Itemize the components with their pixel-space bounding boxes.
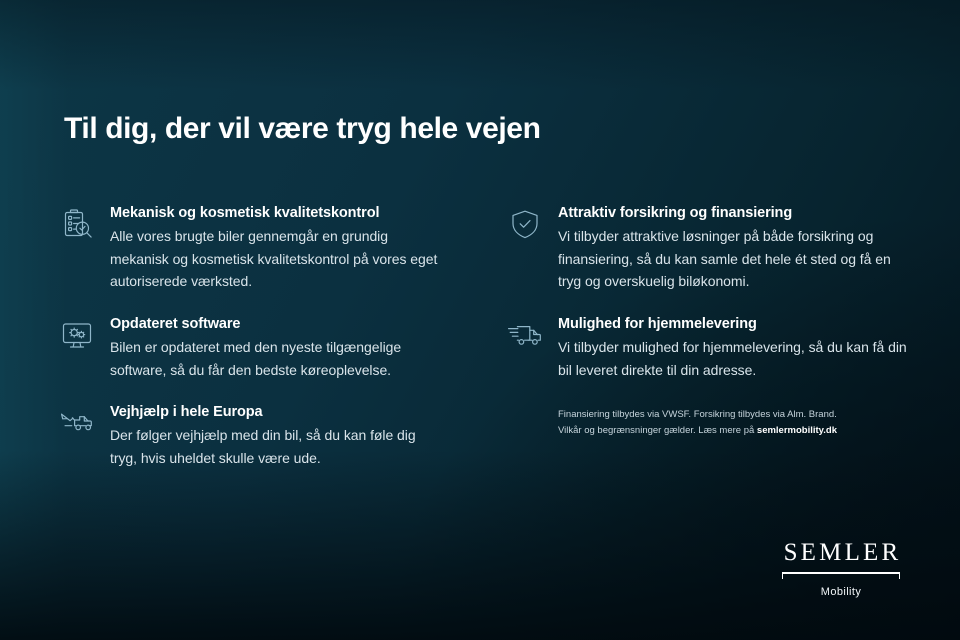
feature-body: Mekanisk og kosmetisk kvalitetskontrol A… xyxy=(110,204,470,293)
tow-truck-icon xyxy=(58,405,96,443)
feature-title: Mekanisk og kosmetisk kvalitetskontrol xyxy=(110,205,470,221)
page-title: Til dig, der vil være tryg hele vejen xyxy=(64,112,541,146)
disclaimer-line-2-text: Vilkår og begrænsninger gælder. Læs mere… xyxy=(558,425,757,436)
semler-mobility-logo: SEMLER Mobility xyxy=(780,540,902,598)
logo-wordmark: SEMLER xyxy=(780,540,902,565)
slide-content: Til dig, der vil være tryg hele vejen xyxy=(0,0,960,640)
feature-item-insurance-financing: Attraktiv forsikring og finansiering Vi … xyxy=(506,204,918,293)
feature-title: Vejhjælp i hele Europa xyxy=(110,404,470,420)
logo-subtitle: Mobility xyxy=(780,586,902,598)
feature-title: Mulighed for hjemmelevering xyxy=(558,316,918,332)
disclaimer-line-2: Vilkår og begrænsninger gælder. Læs mere… xyxy=(558,423,848,438)
feature-body: Attraktiv forsikring og finansiering Vi … xyxy=(558,204,918,293)
feature-title: Attraktiv forsikring og finansiering xyxy=(558,205,918,221)
feature-columns: Mekanisk og kosmetisk kvalitetskontrol A… xyxy=(58,204,918,470)
feature-body: Opdateret software Bilen er opdateret me… xyxy=(110,315,470,381)
feature-body: Mulighed for hjemmelevering Vi tilbyder … xyxy=(558,315,918,381)
feature-column-left: Mekanisk og kosmetisk kvalitetskontrol A… xyxy=(58,204,470,470)
logo-bracket-rule xyxy=(780,572,902,581)
disclaimer: Finansiering tilbydes via VWSF. Forsikri… xyxy=(558,407,848,438)
feature-item-roadside-assistance: Vejhjælp i hele Europa Der følger vejhjæ… xyxy=(58,403,470,469)
feature-item-quality-control: Mekanisk og kosmetisk kvalitetskontrol A… xyxy=(58,204,470,293)
clipboard-magnifier-icon xyxy=(58,206,96,244)
feature-body: Vejhjælp i hele Europa Der følger vejhjæ… xyxy=(110,403,470,469)
feature-text: Der følger vejhjælp med din bil, så du k… xyxy=(110,424,440,469)
disclaimer-line-1: Finansiering tilbydes via VWSF. Forsikri… xyxy=(558,407,848,422)
delivery-truck-icon xyxy=(506,317,544,355)
feature-text: Bilen er opdateret med den nyeste tilgæn… xyxy=(110,336,440,381)
disclaimer-website-link[interactable]: semlermobility.dk xyxy=(757,425,837,436)
feature-title: Opdateret software xyxy=(110,316,470,332)
feature-text: Alle vores brugte biler gennemgår en gru… xyxy=(110,225,440,293)
shield-check-icon xyxy=(506,206,544,244)
feature-text: Vi tilbyder mulighed for hjemmelevering,… xyxy=(558,336,914,381)
monitor-gears-icon xyxy=(58,317,96,355)
feature-item-home-delivery: Mulighed for hjemmelevering Vi tilbyder … xyxy=(506,315,918,381)
feature-text: Vi tilbyder attraktive løsninger på både… xyxy=(558,225,914,293)
feature-item-updated-software: Opdateret software Bilen er opdateret me… xyxy=(58,315,470,381)
feature-column-right: Attraktiv forsikring og finansiering Vi … xyxy=(506,204,918,470)
